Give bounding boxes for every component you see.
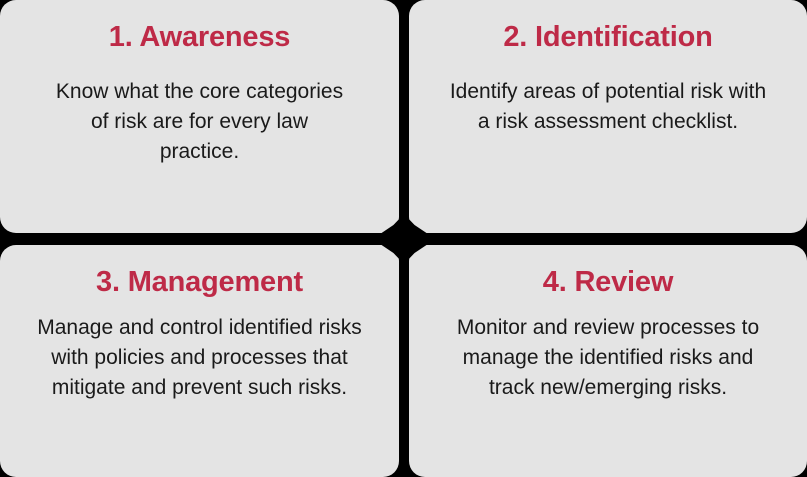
quadrant-title-management: 3. Management [96,265,303,299]
quadrant-card-review[interactable]: 4. Review Monitor and review processes t… [409,245,807,477]
quadrant-card-identification[interactable]: 2. Identification Identify areas of pote… [409,0,807,233]
quadrant-diagram: 1. Awareness Know what the core categori… [0,0,807,477]
quadrant-body-review: Monitor and review processes to manage t… [452,313,764,402]
quadrant-body-management: Manage and control identified risks with… [26,313,374,402]
quadrant-title-review: 4. Review [543,265,673,299]
quadrant-card-management[interactable]: 3. Management Manage and control identif… [0,245,399,477]
quadrant-body-awareness: Know what the core categories of risk ar… [50,77,350,166]
quadrant-title-awareness: 1. Awareness [109,20,290,54]
quadrant-body-identification: Identify areas of potential risk with a … [443,77,773,137]
horizontal-divider [0,233,807,245]
quadrant-card-awareness[interactable]: 1. Awareness Know what the core categori… [0,0,399,233]
quadrant-title-identification: 2. Identification [503,20,712,54]
